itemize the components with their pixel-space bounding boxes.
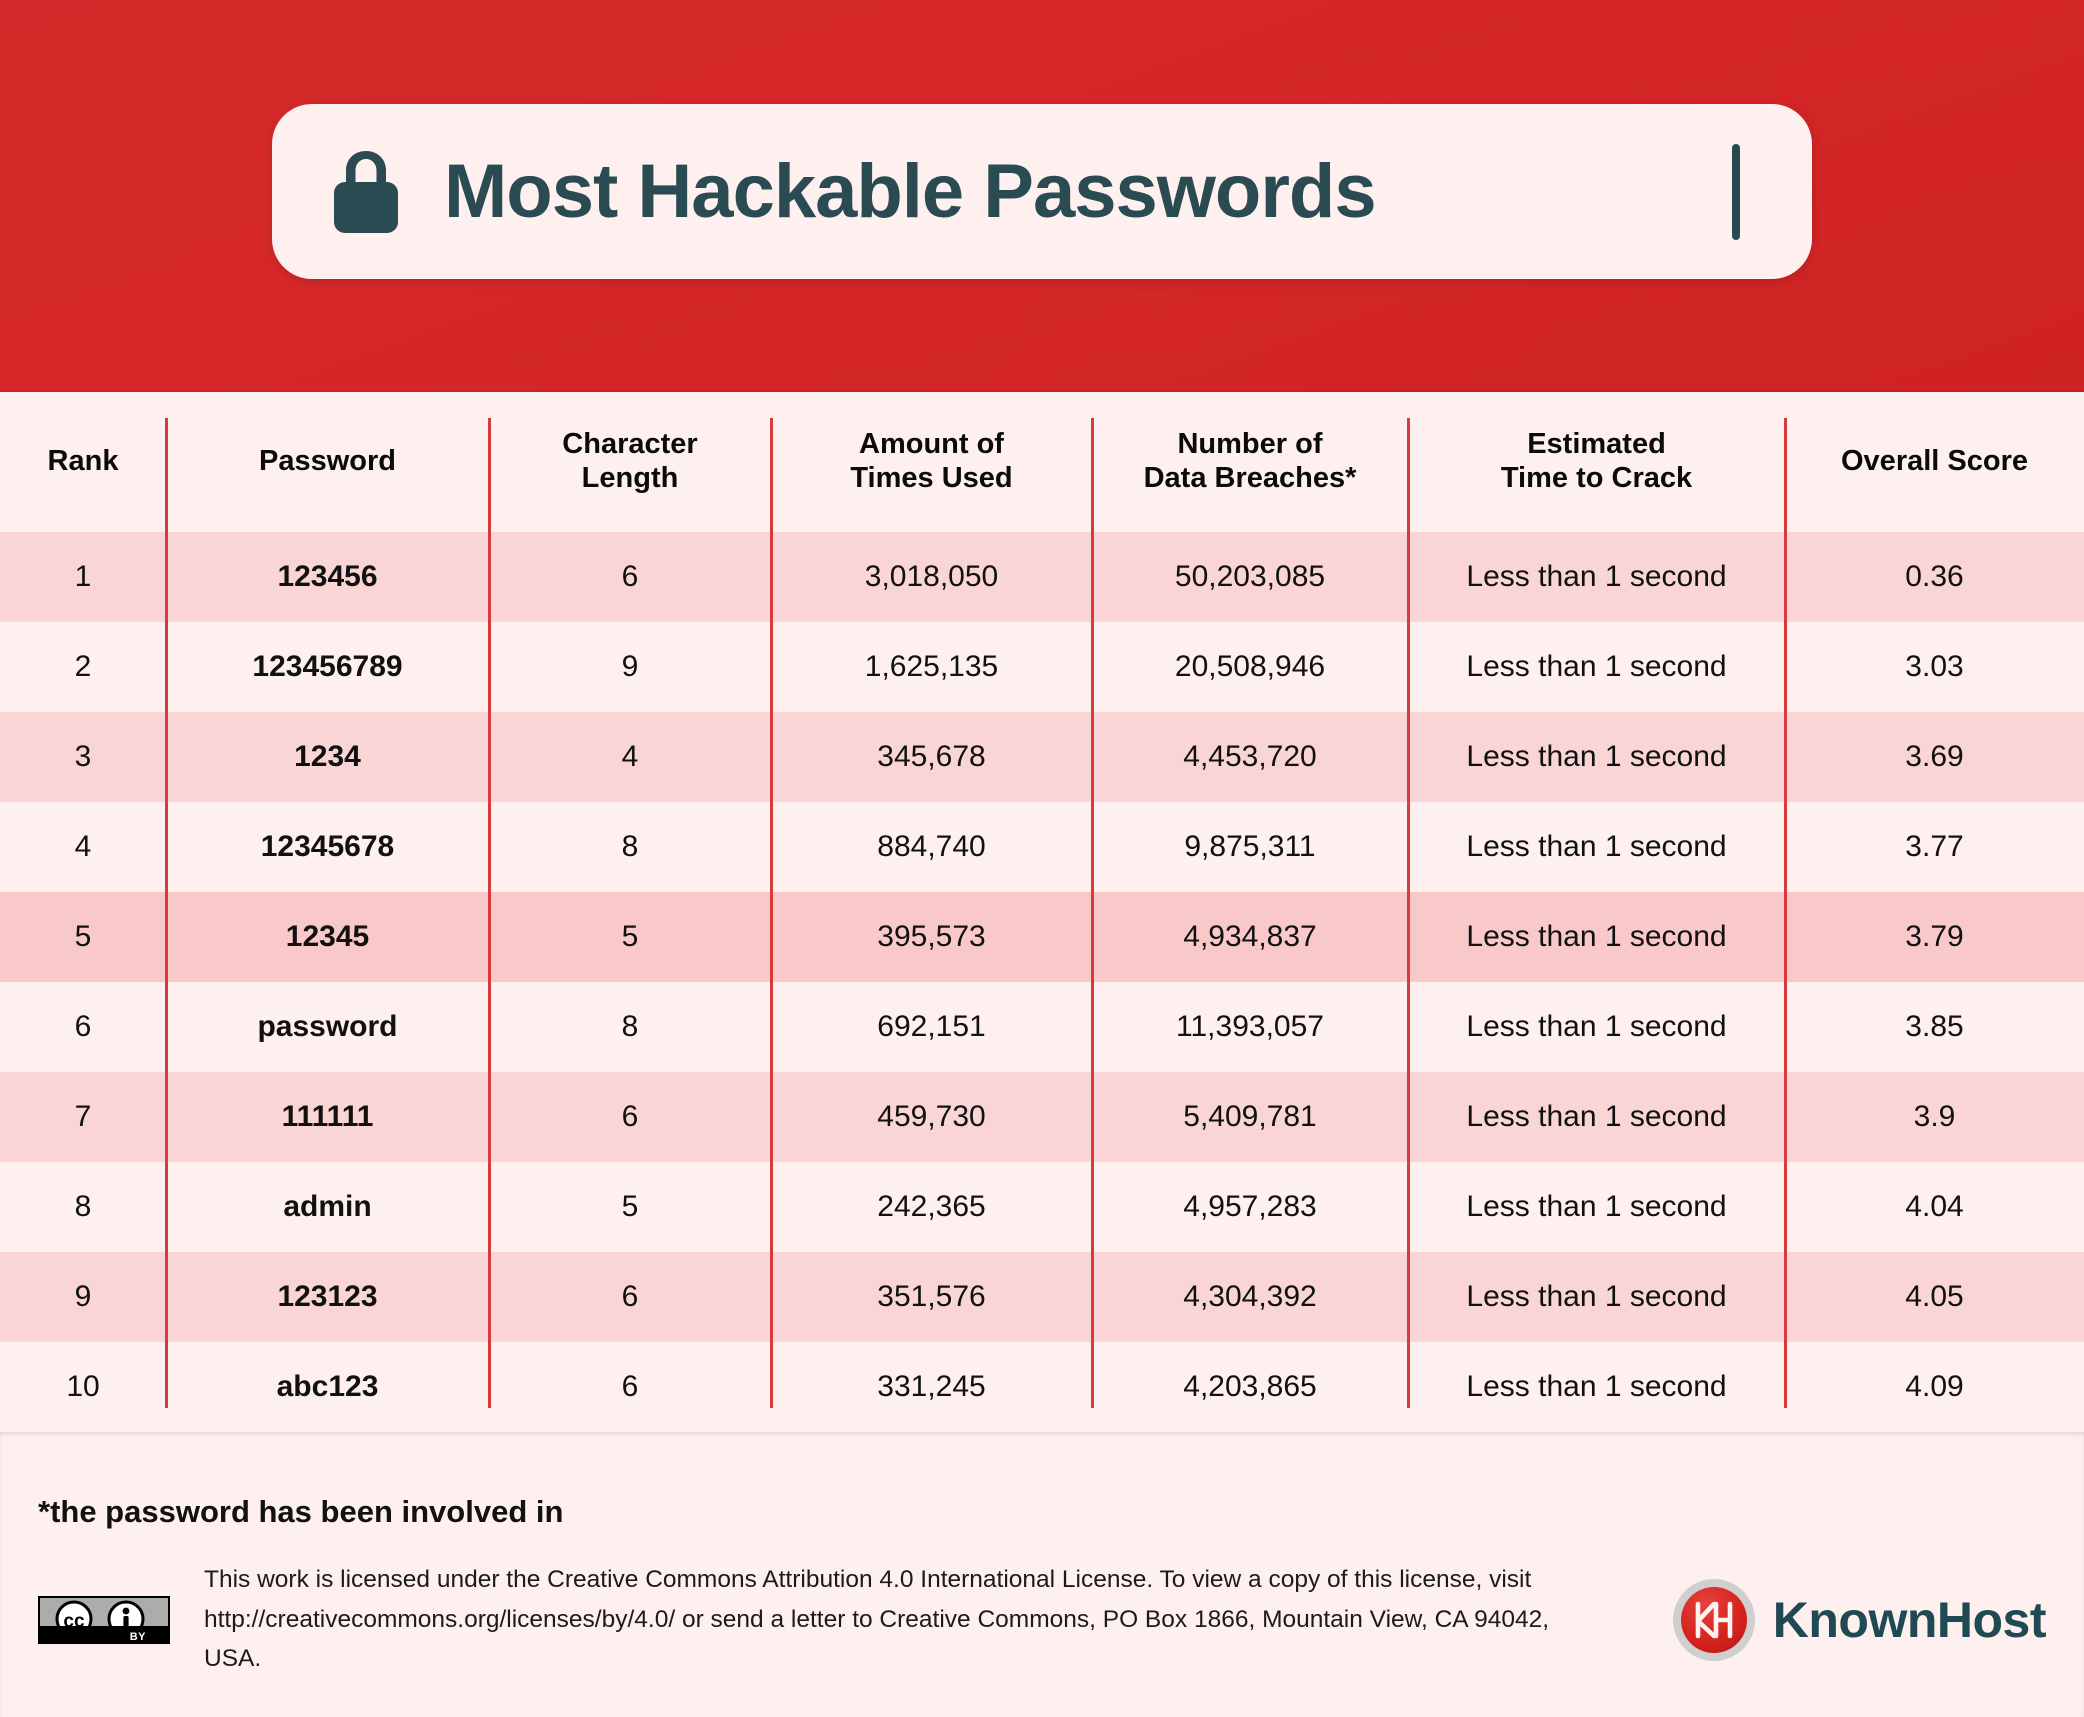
cell-times-used: 1,625,135 <box>771 622 1092 712</box>
cell-length: 4 <box>489 712 771 802</box>
cell-times-used: 351,576 <box>771 1252 1092 1342</box>
cell-overall-score: 4.05 <box>1785 1252 2084 1342</box>
header-line1: Password <box>259 445 396 479</box>
title-card: Most Hackable Passwords <box>272 104 1812 279</box>
header-banner: Most Hackable Passwords <box>0 0 2084 392</box>
header-line1: Overall Score <box>1841 445 2028 479</box>
cell-breaches: 4,957,283 <box>1092 1162 1408 1252</box>
text-caret-icon <box>1732 144 1740 240</box>
column-divider <box>165 418 168 1408</box>
table-row[interactable]: 10 abc123 6 331,245 4,203,865 Less than … <box>0 1342 2084 1432</box>
cell-overall-score: 0.36 <box>1785 532 2084 622</box>
cell-rank: 8 <box>0 1162 166 1252</box>
header-line2: Time to Crack <box>1501 462 1692 496</box>
cell-length: 9 <box>489 622 771 712</box>
cell-time-to-crack: Less than 1 second <box>1408 802 1785 892</box>
cell-password: 12345678 <box>166 802 489 892</box>
header-line1: Number of <box>1144 428 1357 462</box>
badge-by-label: BY <box>130 1631 146 1643</box>
cell-time-to-crack: Less than 1 second <box>1408 1252 1785 1342</box>
cell-time-to-crack: Less than 1 second <box>1408 1162 1785 1252</box>
cell-overall-score: 3.9 <box>1785 1072 2084 1162</box>
cell-rank: 10 <box>0 1342 166 1432</box>
column-header-amount-of-times-used: Amount ofTimes Used <box>771 392 1092 532</box>
cell-time-to-crack: Less than 1 second <box>1408 712 1785 802</box>
table-row[interactable]: 7 111111 6 459,730 5,409,781 Less than 1… <box>0 1072 2084 1162</box>
cell-times-used: 3,018,050 <box>771 532 1092 622</box>
cell-times-used: 331,245 <box>771 1342 1092 1432</box>
header-line1: Character <box>562 428 697 462</box>
cell-rank: 1 <box>0 532 166 622</box>
column-header-estimated-time-to-crack: EstimatedTime to Crack <box>1408 392 1785 532</box>
cell-time-to-crack: Less than 1 second <box>1408 982 1785 1072</box>
knownhost-wordmark: KnownHost <box>1773 1591 2046 1649</box>
cell-password: 1234 <box>166 712 489 802</box>
cell-overall-score: 3.77 <box>1785 802 2084 892</box>
header-line2: Times Used <box>850 462 1012 496</box>
table-row[interactable]: 2 123456789 9 1,625,135 20,508,946 Less … <box>0 622 2084 712</box>
cell-length: 5 <box>489 1162 771 1252</box>
knownhost-mark-icon <box>1673 1579 1755 1661</box>
cell-breaches: 9,875,311 <box>1092 802 1408 892</box>
column-header-character-length: CharacterLength <box>489 392 771 532</box>
cell-rank: 5 <box>0 892 166 982</box>
column-divider <box>1407 418 1410 1408</box>
cell-times-used: 242,365 <box>771 1162 1092 1252</box>
cell-time-to-crack: Less than 1 second <box>1408 1072 1785 1162</box>
cell-overall-score: 4.04 <box>1785 1162 2084 1252</box>
page-title: Most Hackable Passwords <box>444 148 1376 235</box>
cell-overall-score: 4.09 <box>1785 1342 2084 1432</box>
header-line2: Length <box>562 462 697 496</box>
cell-breaches: 4,203,865 <box>1092 1342 1408 1432</box>
cell-breaches: 50,203,085 <box>1092 532 1408 622</box>
table-row[interactable]: 5 12345 5 395,573 4,934,837 Less than 1 … <box>0 892 2084 982</box>
cell-rank: 9 <box>0 1252 166 1342</box>
table-row[interactable]: 1 123456 6 3,018,050 50,203,085 Less tha… <box>0 532 2084 622</box>
cell-overall-score: 3.79 <box>1785 892 2084 982</box>
cell-overall-score: 3.69 <box>1785 712 2084 802</box>
cell-password: 123123 <box>166 1252 489 1342</box>
cell-overall-score: 3.03 <box>1785 622 2084 712</box>
cell-times-used: 395,573 <box>771 892 1092 982</box>
cell-times-used: 692,151 <box>771 982 1092 1072</box>
license-footer: cc BY This work is licensed under the Cr… <box>0 1560 2084 1679</box>
creative-commons-by-icon: cc BY <box>38 1596 170 1644</box>
passwords-table: Rank Password CharacterLength Amount ofT… <box>0 392 2084 1432</box>
cell-time-to-crack: Less than 1 second <box>1408 1342 1785 1432</box>
cell-rank: 4 <box>0 802 166 892</box>
footnote-text: *the password has been involved in <box>38 1494 563 1530</box>
cell-breaches: 5,409,781 <box>1092 1072 1408 1162</box>
cell-length: 8 <box>489 982 771 1072</box>
cell-times-used: 884,740 <box>771 802 1092 892</box>
cell-rank: 2 <box>0 622 166 712</box>
column-divider <box>770 418 773 1408</box>
cell-length: 6 <box>489 1072 771 1162</box>
table-row[interactable]: 8 admin 5 242,365 4,957,283 Less than 1 … <box>0 1162 2084 1252</box>
cell-length: 8 <box>489 802 771 892</box>
table-row[interactable]: 3 1234 4 345,678 4,453,720 Less than 1 s… <box>0 712 2084 802</box>
knownhost-logo[interactable]: KnownHost <box>1673 1579 2046 1661</box>
cell-rank: 3 <box>0 712 166 802</box>
header-line1: Amount of <box>850 428 1012 462</box>
header-line2: Data Breaches* <box>1144 462 1357 496</box>
header-line1: Estimated <box>1501 428 1692 462</box>
cell-breaches: 4,304,392 <box>1092 1252 1408 1342</box>
cell-rank: 7 <box>0 1072 166 1162</box>
column-header-overall-score: Overall Score <box>1785 392 2084 532</box>
cell-password: 123456 <box>166 532 489 622</box>
table-row[interactable]: 6 password 8 692,151 11,393,057 Less tha… <box>0 982 2084 1072</box>
cell-length: 6 <box>489 532 771 622</box>
column-header-number-of-data-breaches: Number ofData Breaches* <box>1092 392 1408 532</box>
footer-area: *the password has been involved in cc BY… <box>0 1432 2084 1717</box>
cell-time-to-crack: Less than 1 second <box>1408 532 1785 622</box>
badge-bar <box>40 1626 168 1642</box>
cell-length: 6 <box>489 1342 771 1432</box>
cell-password: 12345 <box>166 892 489 982</box>
table-row[interactable]: 4 12345678 8 884,740 9,875,311 Less than… <box>0 802 2084 892</box>
cell-overall-score: 3.85 <box>1785 982 2084 1072</box>
cell-time-to-crack: Less than 1 second <box>1408 892 1785 982</box>
cell-length: 5 <box>489 892 771 982</box>
header-line1: Rank <box>48 445 119 479</box>
cell-rank: 6 <box>0 982 166 1072</box>
cell-password: admin <box>166 1162 489 1252</box>
cell-password: 123456789 <box>166 622 489 712</box>
column-divider <box>1784 418 1787 1408</box>
cell-breaches: 11,393,057 <box>1092 982 1408 1072</box>
table-header-row: Rank Password CharacterLength Amount ofT… <box>0 392 2084 532</box>
column-divider <box>1091 418 1094 1408</box>
column-header-rank: Rank <box>0 392 166 532</box>
cell-breaches: 4,934,837 <box>1092 892 1408 982</box>
license-text: This work is licensed under the Creative… <box>204 1560 1604 1679</box>
cell-password: 111111 <box>166 1072 489 1162</box>
cell-times-used: 345,678 <box>771 712 1092 802</box>
cell-time-to-crack: Less than 1 second <box>1408 622 1785 712</box>
lock-icon <box>330 149 402 235</box>
cell-password: password <box>166 982 489 1072</box>
cell-password: abc123 <box>166 1342 489 1432</box>
column-divider <box>488 418 491 1408</box>
cell-breaches: 20,508,946 <box>1092 622 1408 712</box>
column-header-password: Password <box>166 392 489 532</box>
cell-length: 6 <box>489 1252 771 1342</box>
table-row[interactable]: 9 123123 6 351,576 4,304,392 Less than 1… <box>0 1252 2084 1342</box>
cell-times-used: 459,730 <box>771 1072 1092 1162</box>
cell-breaches: 4,453,720 <box>1092 712 1408 802</box>
